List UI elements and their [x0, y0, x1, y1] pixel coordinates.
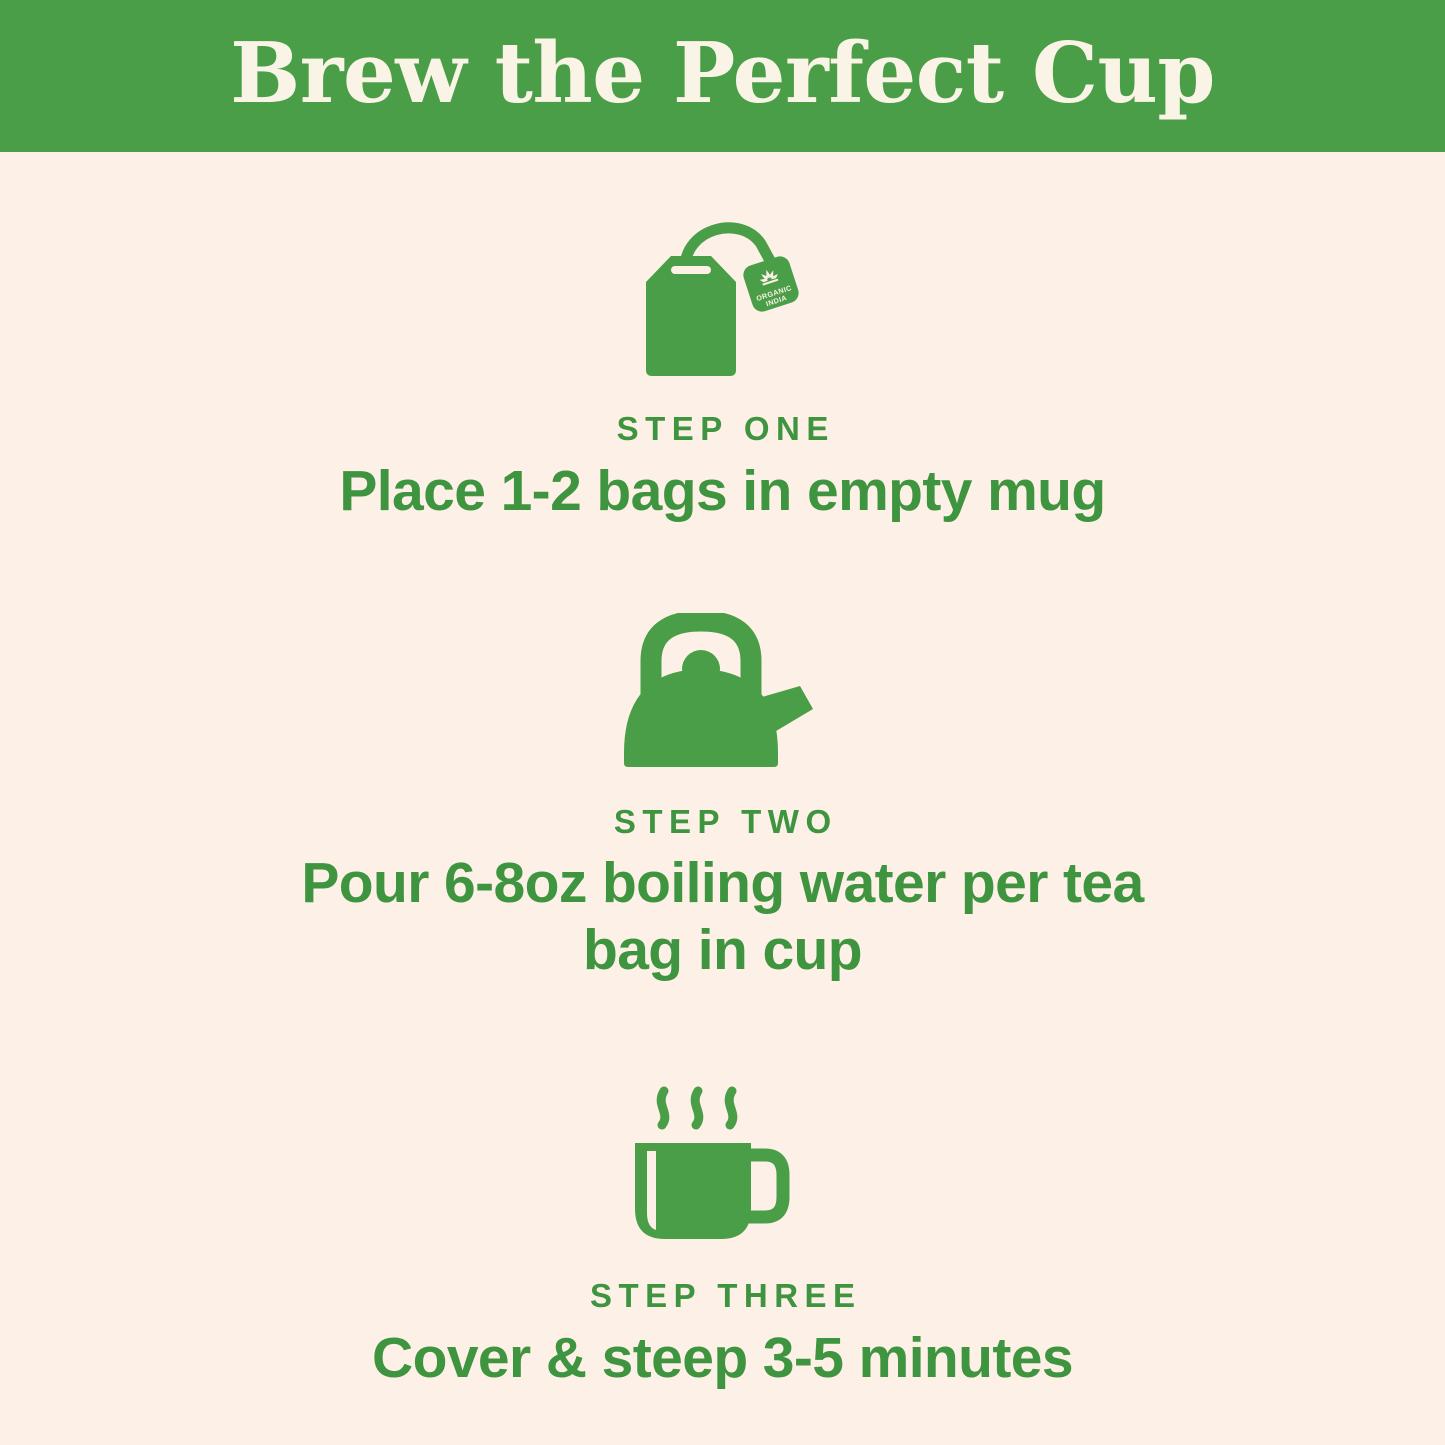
- step-one-label: STEP ONE: [610, 411, 835, 447]
- step-three: STEP THREE Cover & steep 3-5 minutes: [0, 1014, 1445, 1445]
- step-two-label: STEP TWO: [607, 804, 837, 840]
- brewing-instructions-card: Brew the Perfect Cup: [0, 0, 1445, 1445]
- step-two: STEP TWO Pour 6-8oz boiling water per te…: [0, 583, 1445, 1014]
- tea-bag-icon: ORGANIC INDIA: [633, 210, 813, 385]
- page-title: Brew the Perfect Cup: [230, 32, 1215, 121]
- step-two-text: Pour 6-8oz boiling water per tea bag in …: [263, 850, 1183, 985]
- steps-list: ORGANIC INDIA STEP ONE Place 1-2 bags in…: [0, 152, 1445, 1445]
- step-three-label: STEP THREE: [583, 1278, 861, 1314]
- mug-icon: [623, 1067, 823, 1252]
- step-one: ORGANIC INDIA STEP ONE Place 1-2 bags in…: [0, 152, 1445, 583]
- header-banner: Brew the Perfect Cup: [0, 0, 1445, 152]
- step-three-text: Cover & steep 3-5 minutes: [372, 1325, 1073, 1392]
- kettle-icon: [608, 613, 838, 778]
- step-one-text: Place 1-2 bags in empty mug: [339, 458, 1105, 525]
